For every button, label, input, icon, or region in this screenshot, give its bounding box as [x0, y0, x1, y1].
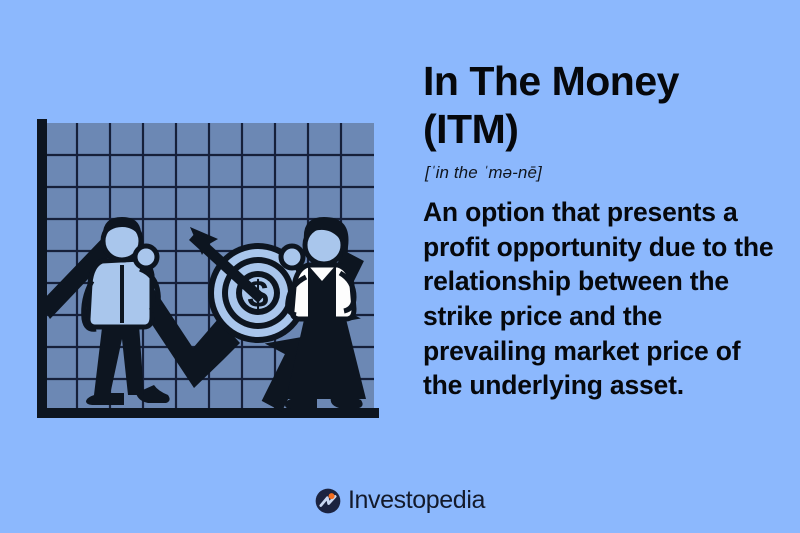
- page-title: In The Money (ITM): [423, 58, 785, 154]
- stock-chart-illustration: $: [18, 105, 392, 425]
- investopedia-logo[interactable]: Investopedia: [0, 486, 800, 515]
- term-title-line-2: (ITM): [423, 106, 518, 152]
- investopedia-wordmark: Investopedia: [348, 486, 485, 515]
- definition-card: $: [0, 0, 800, 533]
- illustration-svg: $: [18, 105, 392, 425]
- definition-text-column: In The Money (ITM) [ˈin the ˈmə-nē] An o…: [423, 58, 785, 403]
- pronunciation-text: [ˈin the ˈmə-nē]: [425, 163, 785, 183]
- investopedia-logo-icon: [315, 488, 341, 514]
- definition-text: An option that presents a profit opportu…: [423, 195, 785, 403]
- term-title-line-1: In The Money: [423, 58, 679, 104]
